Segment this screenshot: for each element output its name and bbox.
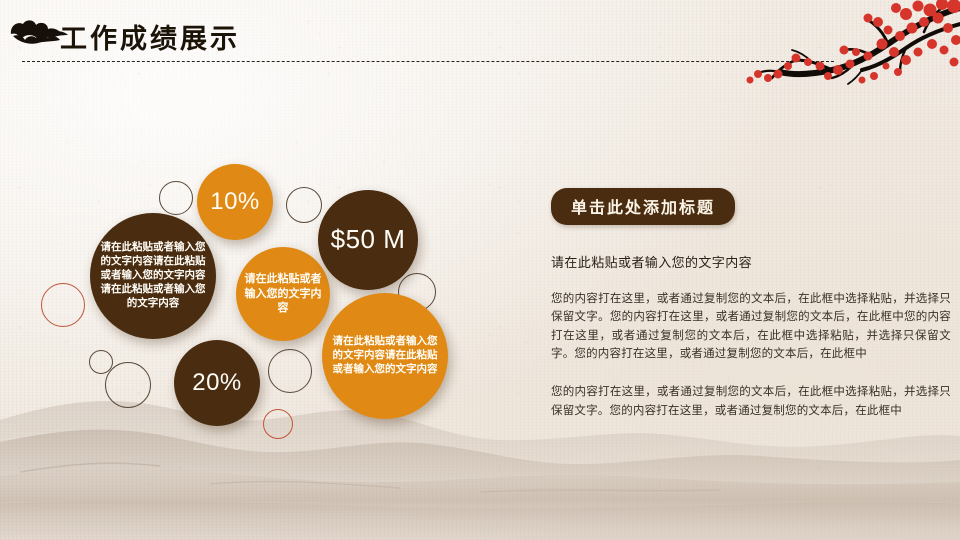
bubble-50-million-label: $50 M: [331, 226, 406, 254]
section-heading-banner[interactable]: 单击此处添加标题: [551, 188, 735, 225]
content-paragraph-2: 您的内容打在这里，或者通过复制您的文本后，在此框中选择粘贴，并选择只保留文字。您…: [551, 383, 951, 420]
ring-left-edge-icon: [41, 283, 85, 327]
ring-bottom-red-icon: [263, 409, 293, 439]
bubble-description-middle[interactable]: 请在此粘贴或者输入您的文字内容: [236, 247, 330, 341]
ring-top-left-icon: [159, 181, 193, 215]
bubble-50-million[interactable]: $50 M: [318, 190, 418, 290]
bubble-10-percent[interactable]: 10%: [197, 164, 273, 240]
bubble-20-percent[interactable]: 20%: [174, 340, 260, 426]
bubble-description-lower-right-label: 请在此粘贴或者输入您的文字内容请在此粘贴或者输入您的文字内容: [325, 335, 445, 377]
bubble-chart-cluster: 10%请在此粘贴或者输入您的文字内容请在此粘贴或者输入您的文字内容请在此粘贴或者…: [0, 0, 540, 540]
bubble-10-percent-label: 10%: [210, 189, 260, 214]
bubble-description-large[interactable]: 请在此粘贴或者输入您的文字内容请在此粘贴或者输入您的文字内容请在此粘贴或者输入您…: [90, 213, 216, 339]
bubble-description-middle-label: 请在此粘贴或者输入您的文字内容: [237, 272, 330, 316]
bubble-20-percent-label: 20%: [192, 370, 242, 395]
bubble-description-large-label: 请在此粘贴或者输入您的文字内容请在此粘贴或者输入您的文字内容请在此粘贴或者输入您…: [93, 241, 213, 310]
content-lead-text: 请在此粘贴或者输入您的文字内容: [551, 253, 951, 273]
content-paragraph-1: 您的内容打在这里，或者通过复制您的文本后，在此框中选择粘贴，并选择只保留文字。您…: [551, 290, 951, 365]
content-column: 单击此处添加标题 请在此粘贴或者输入您的文字内容 您的内容打在这里，或者通过复制…: [551, 188, 951, 420]
ring-lower-large-icon: [105, 362, 151, 408]
bubble-description-lower-right[interactable]: 请在此粘贴或者输入您的文字内容请在此粘贴或者输入您的文字内容: [322, 293, 448, 419]
ring-top-right-icon: [286, 187, 322, 223]
slide-canvas: 工作成绩展示: [0, 0, 960, 540]
ring-center-bottom-icon: [268, 349, 312, 393]
